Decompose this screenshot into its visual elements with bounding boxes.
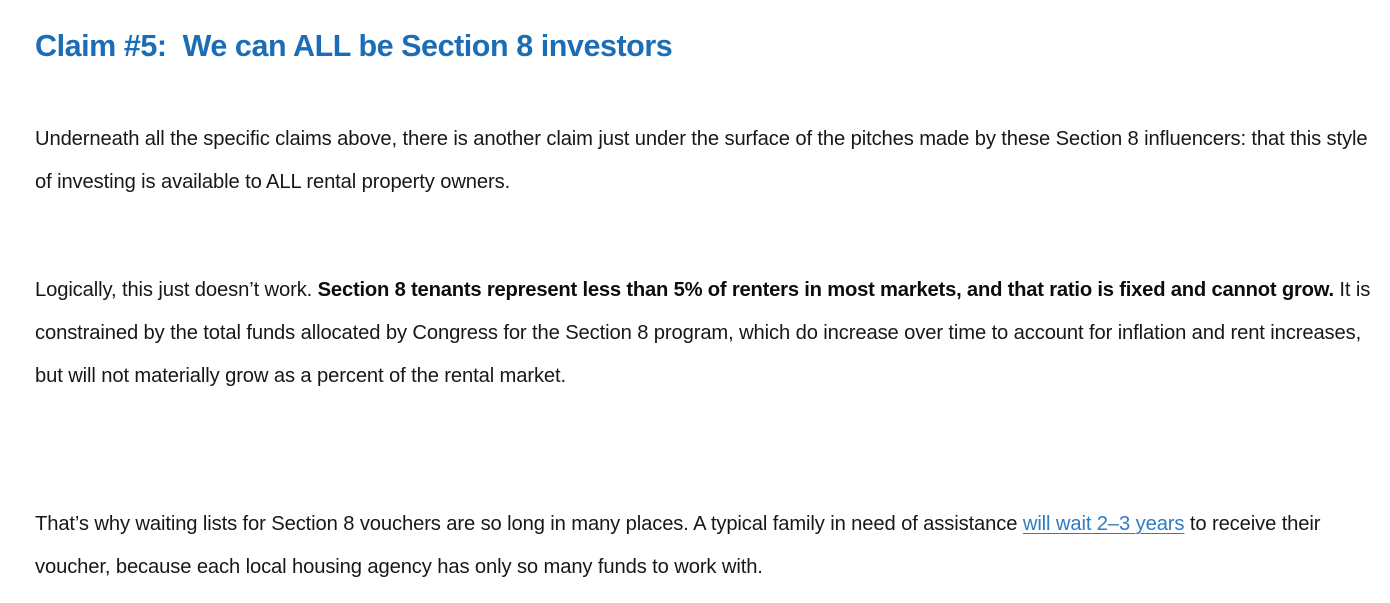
paragraph-3: That’s why waiting lists for Section 8 v… xyxy=(35,503,1372,589)
page-title: Claim #5: We can ALL be Section 8 invest… xyxy=(35,26,1355,66)
article-body: Claim #5: We can ALL be Section 8 invest… xyxy=(0,0,1390,603)
wait-time-link[interactable]: will wait 2–3 years xyxy=(1023,513,1185,535)
paragraph-1-text: Underneath all the specific claims above… xyxy=(35,128,1367,193)
paragraph-2: Logically, this just doesn’t work. Secti… xyxy=(35,269,1372,399)
paragraph-2-emphasis: Section 8 tenants represent less than 5%… xyxy=(318,279,1334,301)
paragraph-1: Underneath all the specific claims above… xyxy=(35,118,1372,204)
paragraph-3-lead: That’s why waiting lists for Section 8 v… xyxy=(35,513,1023,535)
paragraph-2-lead: Logically, this just doesn’t work. xyxy=(35,279,318,301)
